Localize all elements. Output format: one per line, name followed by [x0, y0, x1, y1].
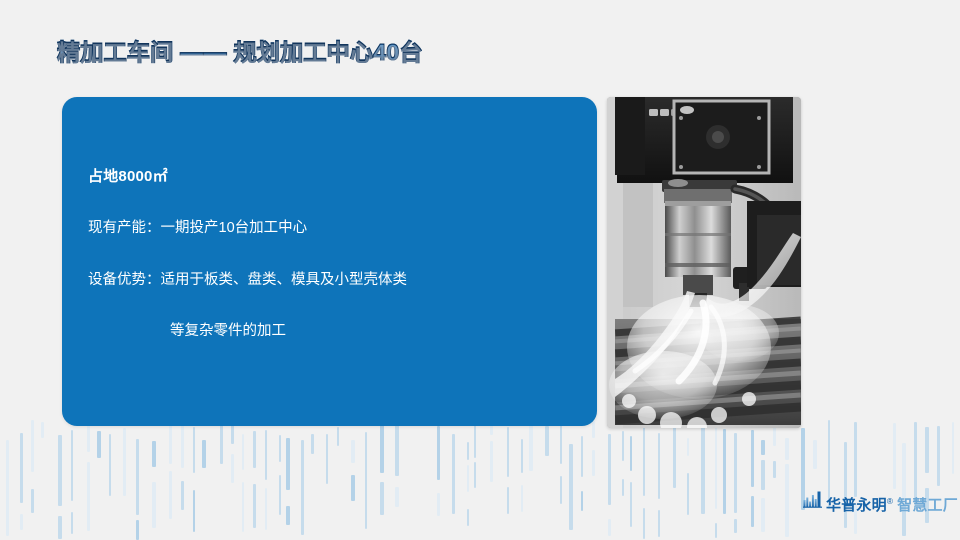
decorative-bar — [751, 430, 754, 487]
page-title: 精加工车间 —— 规划加工中心40台 — [57, 33, 423, 67]
decorative-bar — [715, 425, 717, 509]
decorative-bar — [311, 434, 314, 454]
decorative-bar — [395, 423, 399, 476]
decorative-bar — [785, 464, 789, 537]
decorative-bar — [279, 435, 281, 462]
decorative-bar — [286, 438, 290, 490]
decorative-bar — [507, 427, 509, 477]
decorative-bar — [58, 516, 62, 539]
decorative-bar — [643, 418, 645, 496]
decorative-bar — [136, 439, 139, 515]
panel-line-advantage: 设备优势：适用于板类、盘类、模具及小型壳体类 — [88, 273, 583, 288]
decorative-bar — [169, 471, 172, 519]
decorative-bar — [687, 438, 689, 456]
panel-line-area-text: 占地8000㎡ — [88, 168, 168, 185]
decorative-bar — [761, 498, 765, 532]
decorative-bar — [630, 482, 632, 527]
decorative-bar — [521, 439, 523, 473]
decorative-bar — [351, 475, 355, 501]
decorative-bar — [844, 442, 847, 528]
decorative-bar — [123, 428, 126, 496]
decorative-bar — [952, 422, 954, 474]
decorative-bar — [785, 438, 789, 460]
decorative-bar — [193, 427, 195, 473]
decorative-bar — [893, 423, 896, 489]
decorative-bar — [734, 519, 737, 533]
decorative-bar — [87, 462, 90, 531]
decorative-bar — [723, 429, 726, 514]
decorative-bar — [658, 433, 660, 499]
info-panel-body: 占地8000㎡ 现有产能：一期投产10台加工中心 设备优势：适用于板类、盘类、模… — [88, 169, 583, 339]
logo-brand-text: 华普永明® — [826, 498, 893, 513]
decorative-bar — [673, 422, 676, 488]
decorative-bar — [279, 475, 281, 515]
decorative-bar-pattern — [0, 418, 960, 540]
panel-line-capacity: 现有产能：一期投产10台加工中心 — [88, 221, 583, 236]
decorative-bar — [242, 482, 244, 532]
decorative-bar — [97, 431, 101, 458]
decorative-bar — [380, 482, 384, 515]
logo-suffix-text: 智慧工厂 — [897, 498, 958, 513]
decorative-bar — [265, 430, 267, 480]
decorative-bar — [761, 440, 765, 455]
decorative-bar — [474, 462, 476, 488]
decorative-bar — [20, 514, 23, 530]
decorative-bar — [569, 444, 573, 530]
decorative-bar — [592, 450, 595, 476]
decorative-bar — [507, 487, 509, 514]
decorative-bar — [181, 481, 184, 510]
decorative-bar — [136, 520, 139, 540]
decorative-bar — [560, 476, 562, 504]
decorative-bar — [6, 440, 9, 536]
info-panel: 占地8000㎡ 现有产能：一期投产10台加工中心 设备优势：适用于板类、盘类、模… — [62, 97, 597, 426]
decorative-bar — [630, 436, 632, 471]
decorative-bar — [286, 506, 290, 525]
decorative-bar — [202, 440, 206, 468]
decorative-bar — [608, 434, 611, 505]
decorative-bar — [592, 421, 595, 438]
decorative-bar — [937, 426, 940, 486]
decorative-bar — [622, 431, 624, 461]
decorative-bar — [467, 509, 469, 526]
decorative-bar — [71, 512, 73, 534]
decorative-bar — [773, 461, 776, 478]
decorative-bar — [734, 433, 737, 513]
decorative-bar — [220, 424, 223, 464]
decorative-bar — [902, 443, 906, 498]
decorative-bar — [813, 440, 817, 469]
decorative-bar — [253, 484, 256, 528]
decorative-bar — [467, 442, 469, 460]
decorative-bar — [715, 523, 717, 538]
decorative-bar — [351, 440, 355, 463]
photo-artwork — [607, 97, 801, 428]
brand-logo: 华普永明® 智慧工厂 — [803, 491, 958, 513]
decorative-bar — [41, 422, 44, 438]
decorative-bar — [265, 488, 267, 530]
decorative-bar — [622, 479, 624, 496]
decorative-bar — [365, 432, 367, 529]
decorative-bar — [529, 423, 533, 471]
decorative-bar — [301, 440, 304, 535]
decorative-bar — [109, 434, 111, 496]
decorative-bar — [31, 489, 34, 513]
decorative-bar — [560, 423, 562, 464]
decorative-bar — [608, 519, 611, 536]
machining-center-photo — [607, 97, 801, 428]
logo-registered-mark: ® — [887, 497, 893, 506]
decorative-bar — [169, 421, 172, 464]
decorative-bar — [687, 473, 689, 515]
decorative-bar — [71, 430, 73, 501]
logo-brand-name: 华普永明 — [826, 497, 887, 514]
decorative-bar — [380, 425, 384, 473]
decorative-bar — [643, 508, 645, 539]
factory-building-icon — [803, 491, 822, 513]
panel-line-advantage-continued: 等复杂零件的加工 — [88, 324, 583, 339]
decorative-bar — [452, 434, 455, 514]
decorative-bar — [490, 441, 493, 482]
decorative-bar — [581, 491, 583, 511]
decorative-bar — [437, 426, 440, 480]
decorative-bar — [337, 427, 339, 446]
decorative-bar — [925, 427, 929, 473]
decorative-bar — [545, 426, 549, 456]
decorative-bar — [395, 487, 399, 507]
decorative-bar — [467, 465, 469, 492]
decorative-bar — [581, 436, 583, 477]
decorative-bar — [152, 441, 156, 467]
decorative-bar — [58, 435, 62, 506]
decorative-bar — [193, 490, 195, 532]
decorative-bar — [914, 422, 917, 501]
decorative-bar — [437, 493, 440, 516]
panel-line-area: 占地8000㎡ — [88, 169, 583, 184]
decorative-bar — [521, 485, 523, 512]
decorative-bar — [326, 434, 328, 484]
decorative-bar — [751, 496, 754, 527]
decorative-bar — [658, 510, 660, 537]
decorative-bar — [854, 422, 857, 497]
decorative-bar — [761, 460, 765, 490]
decorative-bar — [242, 434, 244, 470]
slide-canvas: 精加工车间 —— 规划加工中心40台 占地8000㎡ 现有产能：一期投产10台加… — [0, 0, 960, 540]
decorative-bar — [31, 420, 34, 472]
decorative-bar — [181, 425, 184, 468]
decorative-bar — [474, 422, 476, 458]
decorative-bar — [152, 482, 156, 528]
decorative-bar — [701, 427, 705, 514]
decorative-bar — [20, 433, 23, 503]
decorative-bar — [231, 454, 234, 483]
decorative-bar — [253, 431, 256, 468]
